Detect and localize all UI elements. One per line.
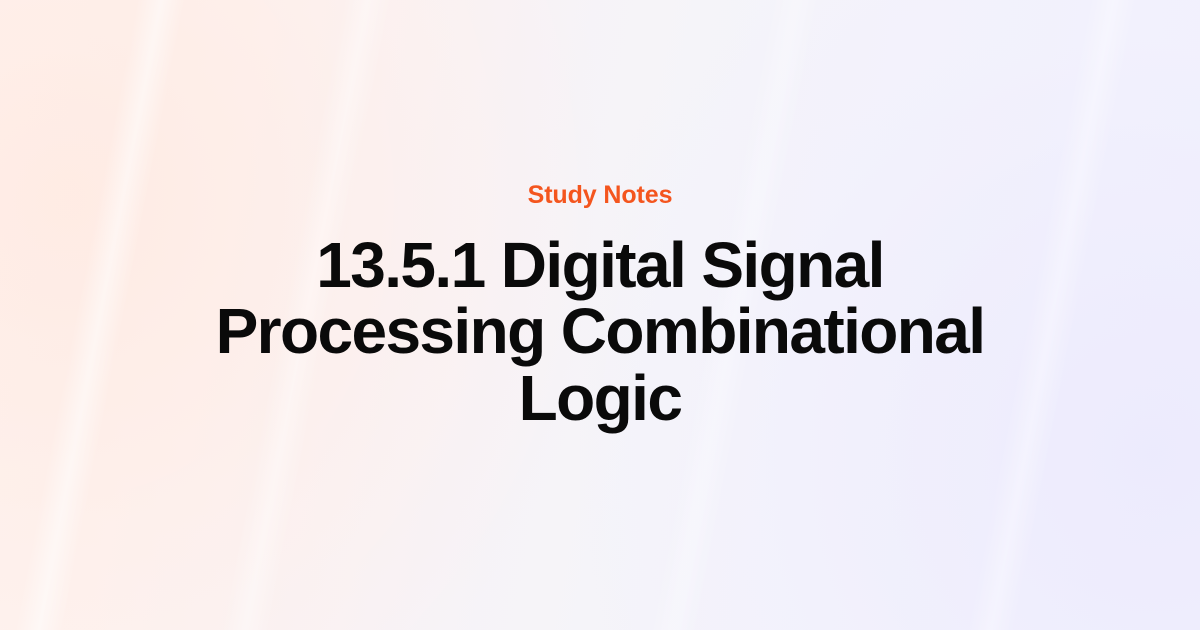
eyebrow-label: Study Notes <box>50 182 1150 210</box>
study-notes-banner: Study Notes 13.5.1 Digital Signal Proces… <box>0 0 1200 630</box>
banner-content: Study Notes 13.5.1 Digital Signal Proces… <box>50 182 1150 431</box>
page-title: 13.5.1 Digital Signal Processing Combina… <box>150 232 1050 432</box>
